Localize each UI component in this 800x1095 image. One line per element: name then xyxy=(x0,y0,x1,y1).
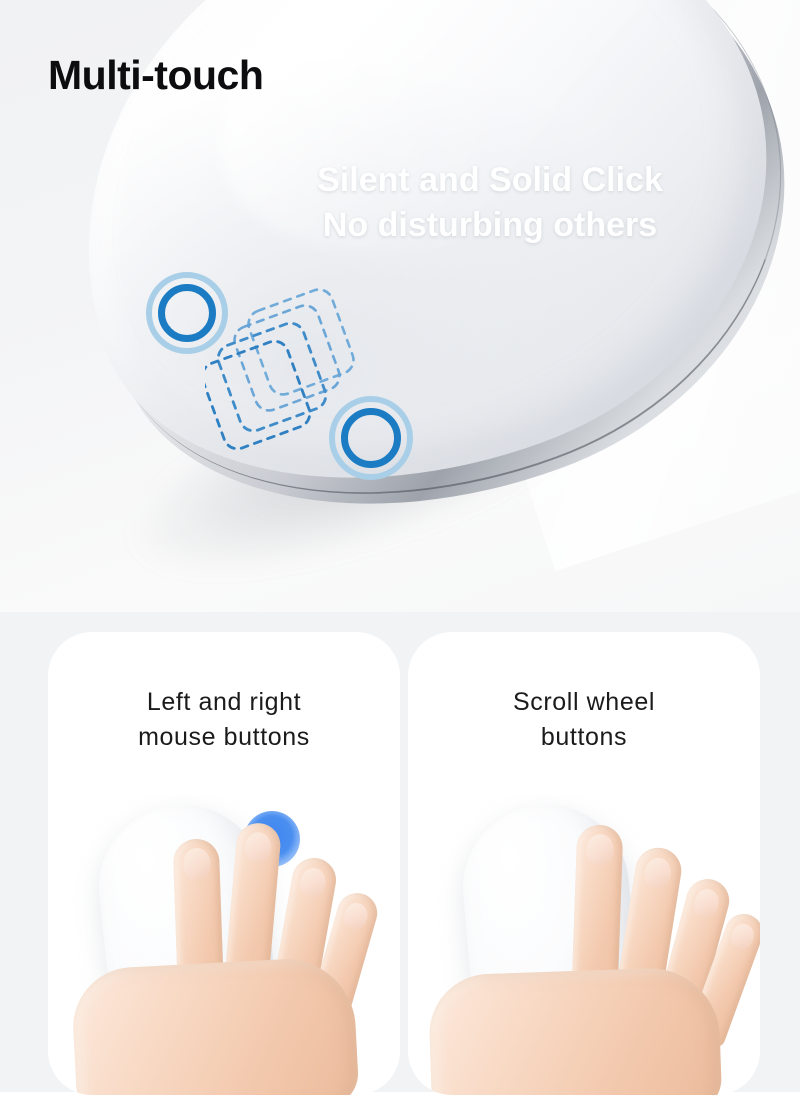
touch-point-ring-icon xyxy=(329,396,413,480)
back-of-hand xyxy=(428,966,723,1095)
feature-card-left-right-buttons[interactable]: Left and right mouse buttons xyxy=(48,632,400,1095)
hero-section: Silent and Solid Click No disturbing oth… xyxy=(0,0,800,620)
hero-overlay-text: Silent and Solid Click No disturbing oth… xyxy=(230,158,750,248)
card-caption: Scroll wheel buttons xyxy=(408,685,760,754)
fingernail xyxy=(586,834,614,866)
feature-card-scroll-wheel-buttons[interactable]: Scroll wheel buttons xyxy=(408,632,760,1095)
fingernail xyxy=(728,921,757,952)
card-photo-hand-scrolling xyxy=(408,795,760,1095)
card-caption: Left and right mouse buttons xyxy=(48,685,400,754)
card-photo-hand-on-mouse xyxy=(48,795,400,1095)
fingernail xyxy=(183,848,211,880)
fingernail xyxy=(244,831,273,863)
ring-inner xyxy=(341,408,401,468)
card-caption-line-1: Scroll wheel xyxy=(513,688,655,716)
page-title: Multi-touch xyxy=(48,52,263,99)
touch-point-ring-icon xyxy=(146,272,228,354)
ring-inner xyxy=(158,284,216,342)
card-caption-line-2: mouse buttons xyxy=(48,720,400,755)
hero-overlay-line-1: Silent and Solid Click xyxy=(317,161,663,199)
card-caption-line-1: Left and right xyxy=(147,688,301,716)
hero-overlay-line-2: No disturbing others xyxy=(230,203,750,248)
back-of-hand xyxy=(70,956,359,1095)
fingernail xyxy=(691,886,721,919)
feature-cards-section: Left and right mouse buttons xyxy=(0,612,800,1092)
fingernail xyxy=(643,856,673,890)
card-caption-line-2: buttons xyxy=(408,720,760,755)
fingernail xyxy=(298,866,328,899)
fingernail xyxy=(341,900,370,931)
